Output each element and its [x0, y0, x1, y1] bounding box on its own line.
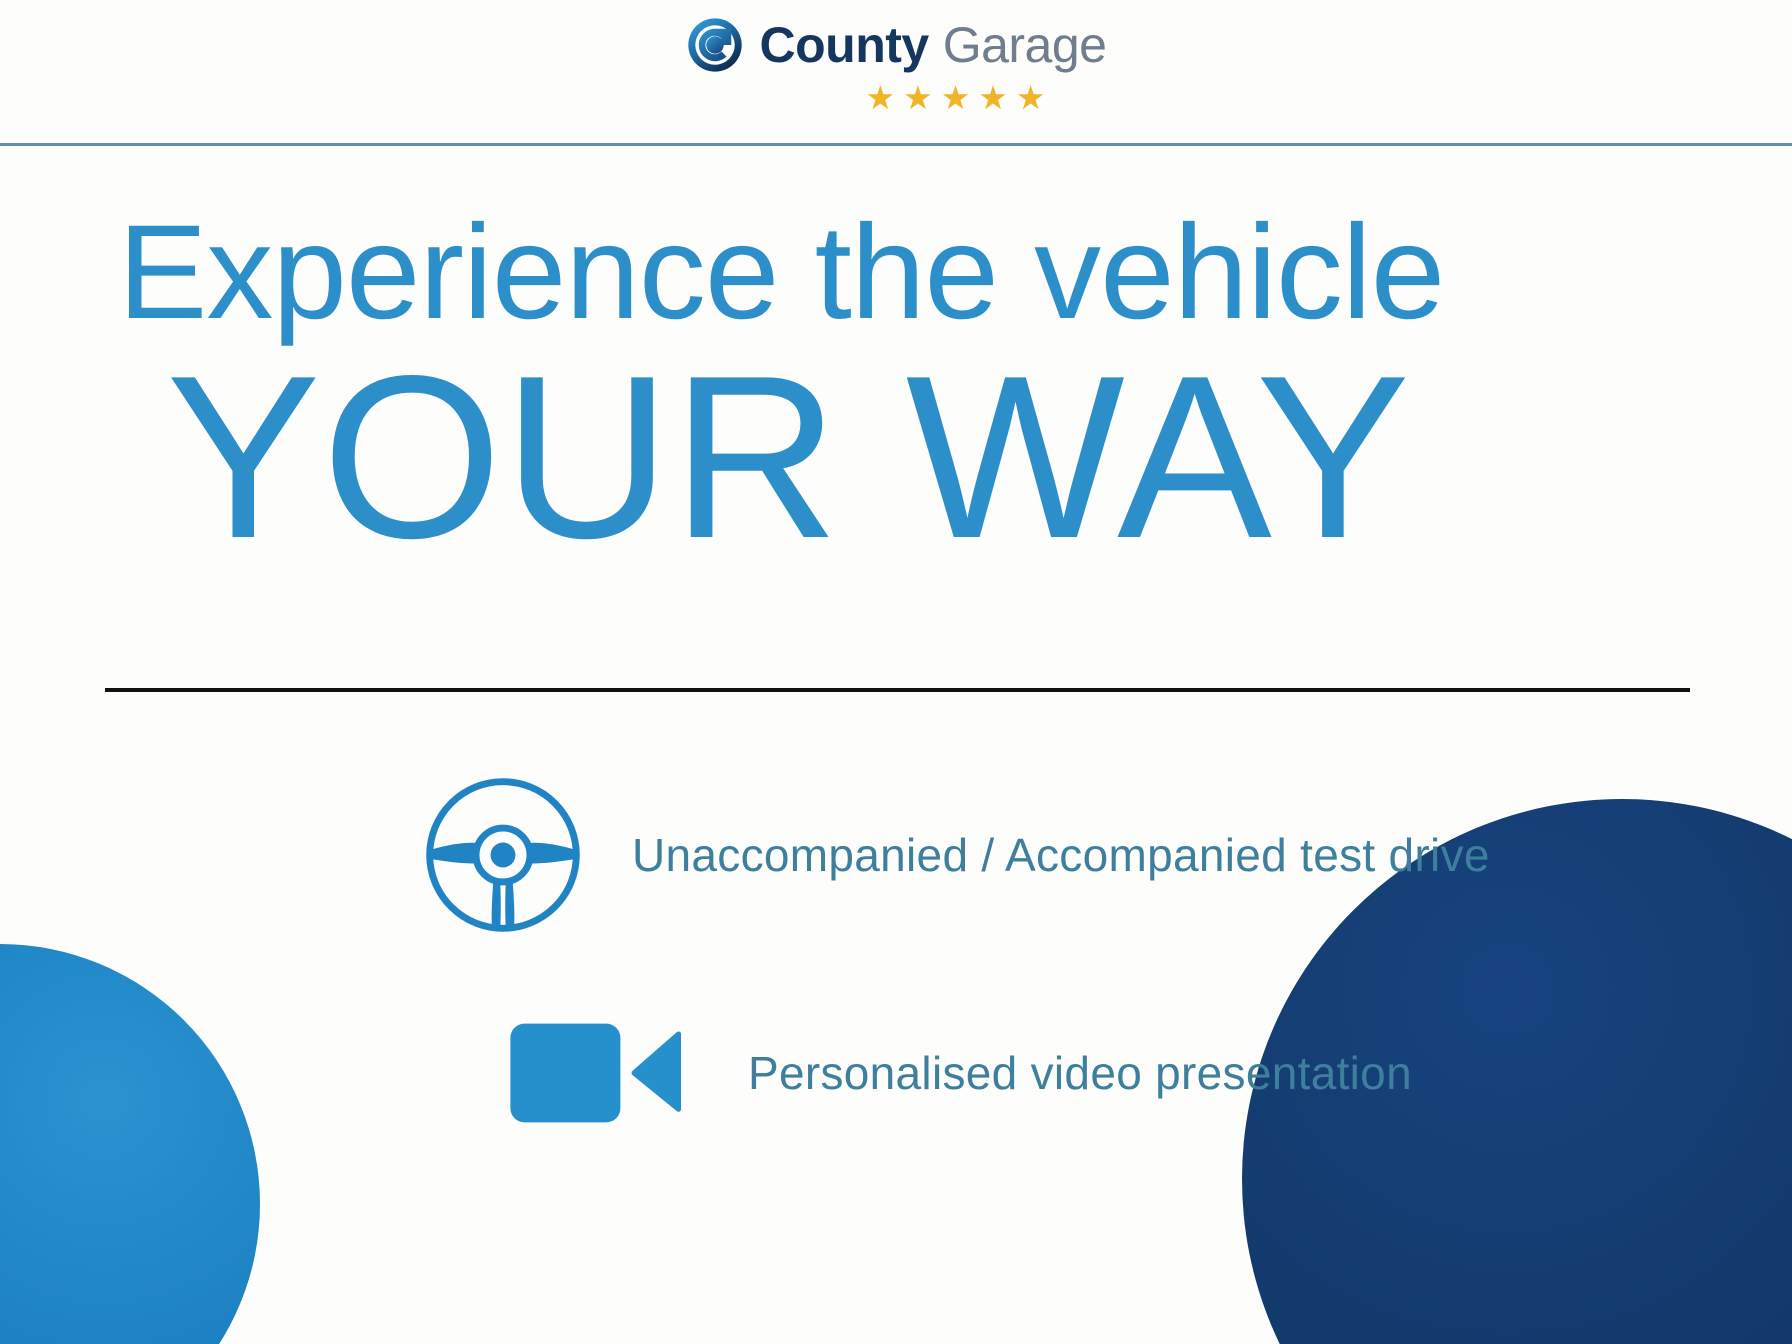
rating-stars: ★ ★ ★ ★ ★: [866, 81, 1047, 114]
star-icon-5: ★: [1016, 81, 1047, 114]
logo-lockup: County Garage: [686, 16, 1107, 74]
brand-header: County Garage ★ ★ ★ ★ ★: [0, 0, 1792, 143]
video-camera-icon: [500, 1018, 684, 1128]
header-divider: [0, 143, 1792, 146]
headline-divider: [105, 688, 1690, 692]
promo-banner: County Garage ★ ★ ★ ★ ★ Experience the v…: [0, 0, 1792, 1344]
logo-wordmark: County Garage: [760, 20, 1107, 70]
headline-line-2: YOUR WAY: [166, 348, 1792, 568]
star-icon-4: ★: [978, 81, 1009, 114]
headline-line-1: Experience the vehicle: [118, 205, 1792, 342]
feature-item-test-drive: Unaccompanied / Accompanied test drive: [0, 770, 1792, 940]
logo-word-garage: Garage: [943, 20, 1107, 70]
star-icon-3: ★: [941, 81, 972, 114]
feature-item-video: Personalised video presentation: [0, 988, 1792, 1158]
star-icon-1: ★: [866, 81, 897, 114]
star-icon-2: ★: [903, 81, 934, 114]
logo-word-county: County: [760, 20, 929, 70]
steering-wheel-icon: [420, 772, 586, 938]
county-garage-logo-icon: [686, 16, 744, 74]
feature-label-video: Personalised video presentation: [748, 1046, 1412, 1100]
feature-label-test-drive: Unaccompanied / Accompanied test drive: [632, 828, 1490, 882]
headline-block: Experience the vehicle YOUR WAY: [0, 205, 1792, 568]
feature-list: Unaccompanied / Accompanied test drive P…: [0, 770, 1792, 1158]
